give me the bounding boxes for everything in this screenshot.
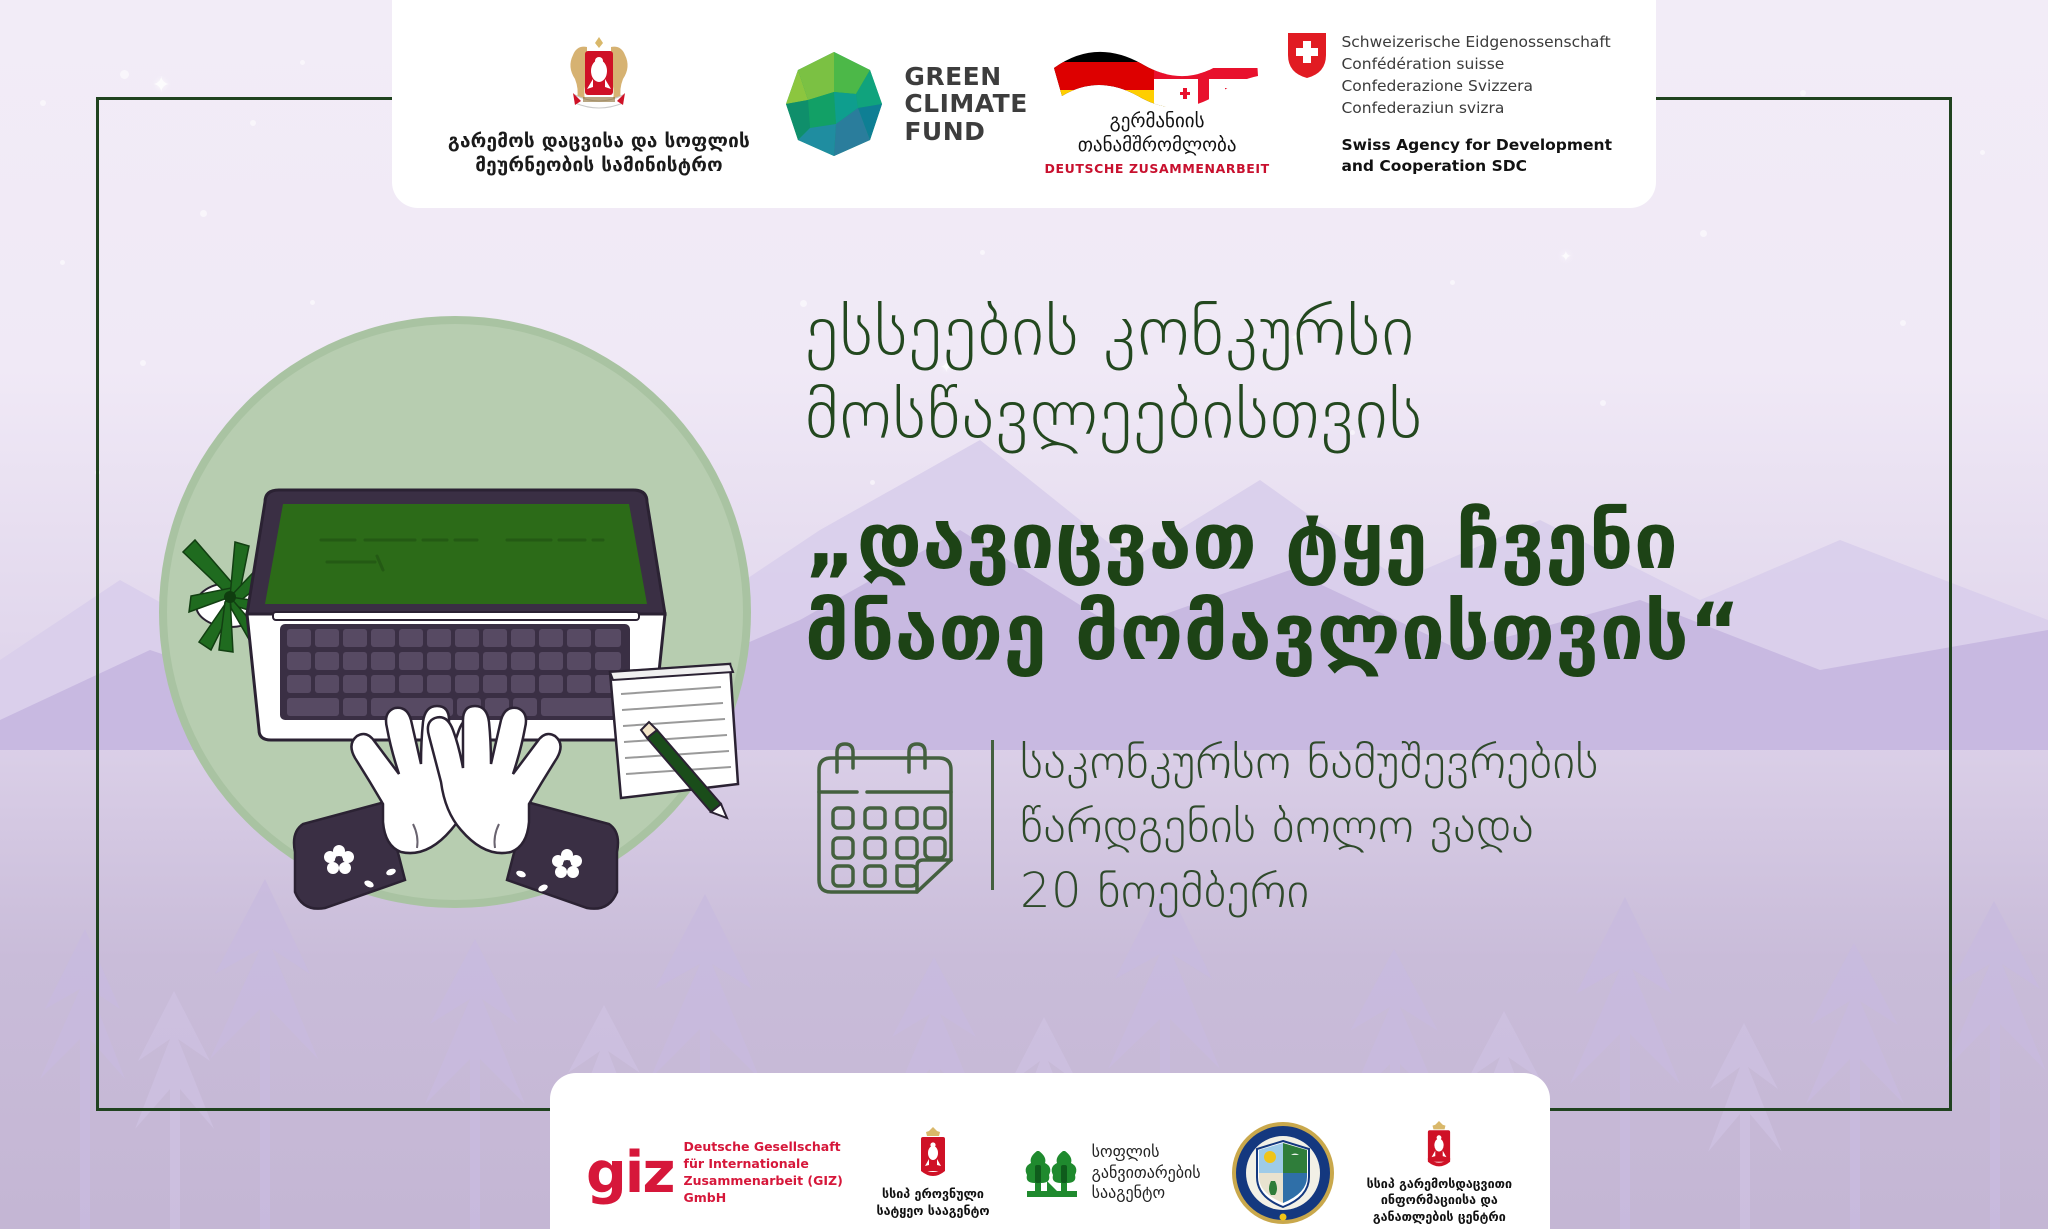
gcf-wordmark: GREEN CLIMATE FUND xyxy=(904,63,1028,146)
headline-line-2: მნათე მომავლისთვის“ xyxy=(805,588,1985,678)
two-trees-house-icon xyxy=(1021,1145,1083,1201)
gcf-polygon-globe-icon xyxy=(778,48,890,160)
env-info-center-name: სსიპ გარემოსდაცვითი ინფორმაციისა და განა… xyxy=(1367,1176,1512,1226)
logo-national-forestry-agency: სსიპ ეროვნული სატყეო სააგენტო xyxy=(875,1127,990,1219)
swiss-confederation-names: Schweizerische Eidgenossenschaft Confédé… xyxy=(1341,31,1612,119)
gcf-line-1: GREEN xyxy=(904,63,1028,91)
ministry-name: გარემოს დაცვისა და სოფლის მეურნეობის სამ… xyxy=(448,129,750,178)
vertical-divider xyxy=(991,740,994,890)
kicker-line-2: მოსწავლეებისთვის xyxy=(805,373,1985,456)
swiss-bold-line-1: Swiss Agency for Development xyxy=(1341,135,1612,156)
national-forestry-agency-name: სსიპ ეროვნული სატყეო სააგენტო xyxy=(877,1186,990,1219)
round-blue-gold-seal-icon xyxy=(1231,1121,1335,1225)
poster-canvas: ✦ ✦ ✦ ✦ ✦ ✦ xyxy=(0,0,2048,1229)
georgia-coat-of-arms-icon xyxy=(553,31,645,121)
ministry-line-1: გარემოს დაცვისა და სოფლის xyxy=(448,129,750,153)
giz-sub-line-1: Deutsche Gesellschaft xyxy=(684,1139,846,1156)
german-ka-line-2: თანამშრომლობა xyxy=(1078,134,1237,157)
laptop-icon xyxy=(247,490,665,740)
swiss-bold-line-2: and Cooperation SDC xyxy=(1341,156,1612,177)
logo-ministry-of-environment: გარემოს დაცვისა და სოფლის მეურნეობის სამ… xyxy=(434,31,764,178)
eiec-line-2: ინფორმაციისა და xyxy=(1367,1192,1512,1209)
rural-development-agency-name: სოფლის განვითარების სააგენტო xyxy=(1092,1142,1201,1204)
nfa-line-1: სსიპ ეროვნული xyxy=(877,1186,990,1202)
swiss-line-de: Schweizerische Eidgenossenschaft xyxy=(1341,31,1612,53)
giz-subtitle: Deutsche Gesellschaft für Internationale… xyxy=(684,1139,846,1207)
eiec-line-1: სსიპ გარემოსდაცვითი xyxy=(1367,1176,1512,1193)
logo-swiss-sdc: Schweizerische Eidgenossenschaft Confédé… xyxy=(1286,31,1612,177)
headline-title: „დავიცვათ ტყე ჩვენი მნათე მომავლისთვის“ xyxy=(805,497,1985,678)
deadline-date: 20 ნოემბერი xyxy=(1020,859,1599,923)
german-cooperation-name-ka: გერმანიის თანამშრომლობა xyxy=(1078,110,1237,156)
gcf-line-3: FUND xyxy=(904,118,1028,146)
kicker-text: ესსეების კონკურსი მოსწავლეებისთვის xyxy=(805,290,1985,455)
rda-line-3: სააგენტო xyxy=(1092,1183,1201,1204)
giz-sub-line-3: Zusammenarbeit (GIZ) GmbH xyxy=(684,1173,846,1207)
student-typing-on-laptop-illustration xyxy=(155,312,755,912)
deutsche-zusammenarbeit-label: DEUTSCHE ZUSAMMENARBEIT xyxy=(1045,161,1270,176)
swiss-line-rm: Confederaziun svizra xyxy=(1341,97,1612,119)
logo-rural-development-agency: სოფლის განვითარების სააგენტო xyxy=(1021,1142,1201,1204)
swiss-cross-shield-icon xyxy=(1286,31,1328,79)
giz-sub-line-2: für Internationale xyxy=(684,1156,846,1173)
deadline-line-2: წარდგენის ბოლო ვადა xyxy=(1020,794,1599,858)
logo-green-climate-fund: GREEN CLIMATE FUND xyxy=(778,48,1028,160)
georgia-shield-emblem-icon xyxy=(1422,1121,1456,1171)
swiss-line-fr: Confédération suisse xyxy=(1341,53,1612,75)
rda-line-1: სოფლის xyxy=(1092,1142,1201,1163)
german-ka-line-1: გერმანიის xyxy=(1078,110,1237,133)
logo-mepa-seal xyxy=(1231,1121,1335,1225)
gcf-line-2: CLIMATE xyxy=(904,90,1028,118)
kicker-line-1: ესსეების კონკურსი xyxy=(805,290,1985,373)
logo-german-cooperation: გერმანიის თანამშრომლობა DEUTSCHE ZUSAMME… xyxy=(1042,32,1272,175)
logo-giz: giz Deutsche Gesellschaft für Internatio… xyxy=(586,1139,845,1207)
main-content: ესსეების კონკურსი მოსწავლეებისთვის „დავი… xyxy=(805,290,1985,923)
deadline-line-1: საკონკურსო ნამუშევრების xyxy=(1020,730,1599,794)
logo-environmental-information-education-center: სსიპ გარემოსდაცვითი ინფორმაციისა და განა… xyxy=(1365,1121,1514,1226)
german-georgian-flag-ribbon-icon xyxy=(1046,32,1268,118)
georgia-shield-emblem-icon xyxy=(915,1127,951,1181)
headline-line-1: „დავიცვათ ტყე ჩვენი xyxy=(805,497,1985,587)
swiss-agency-label: Swiss Agency for Development and Coopera… xyxy=(1341,135,1612,177)
deadline-block: საკონკურსო ნამუშევრების წარდგენის ბოლო ვ… xyxy=(805,730,1985,923)
calendar-icon xyxy=(805,740,965,900)
nfa-line-2: სატყეო სააგენტო xyxy=(877,1203,990,1219)
bottom-partner-logo-bar: giz Deutsche Gesellschaft für Internatio… xyxy=(550,1073,1550,1229)
swiss-line-it: Confederazione Svizzera xyxy=(1341,75,1612,97)
top-partner-logo-bar: გარემოს დაცვისა და სოფლის მეურნეობის სამ… xyxy=(392,0,1656,208)
eiec-line-3: განათლების ცენტრი xyxy=(1367,1209,1512,1226)
ministry-line-2: მეურნეობის სამინისტრო xyxy=(448,153,750,177)
deadline-text: საკონკურსო ნამუშევრების წარდგენის ბოლო ვ… xyxy=(1020,730,1599,923)
rda-line-2: განვითარების xyxy=(1092,1163,1201,1184)
giz-wordmark: giz xyxy=(586,1149,674,1197)
